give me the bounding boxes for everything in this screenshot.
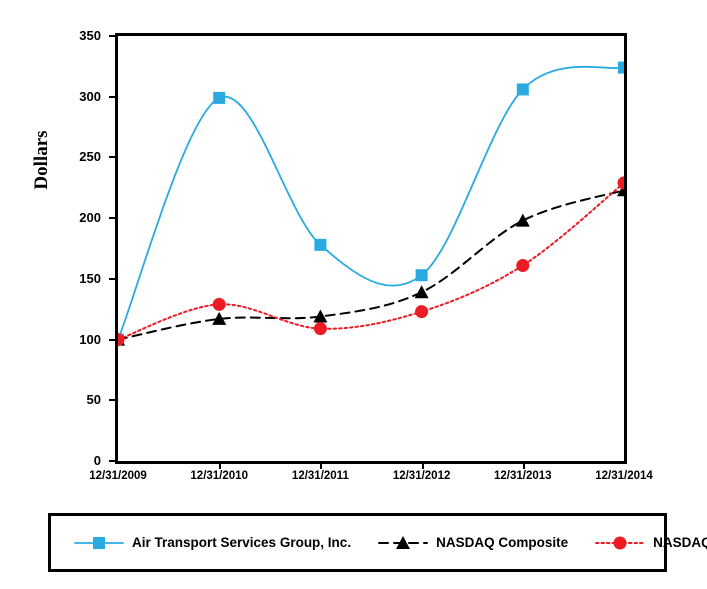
legend: Air Transport Services Group, Inc.NASDAQ… bbox=[48, 513, 667, 572]
data-point-marker bbox=[517, 83, 529, 95]
x-axis-tick-label: 12/31/2014 bbox=[564, 470, 684, 482]
legend-item: NASDAQ Transportation bbox=[594, 535, 707, 551]
data-point-marker bbox=[415, 285, 429, 298]
data-point-marker bbox=[516, 259, 529, 272]
data-point-marker bbox=[516, 214, 530, 227]
x-axis-tick-mark bbox=[219, 464, 221, 469]
data-point-marker bbox=[314, 322, 327, 335]
data-point-marker bbox=[618, 62, 624, 74]
series-line bbox=[118, 183, 624, 340]
data-point-marker bbox=[415, 305, 428, 318]
data-point-marker bbox=[213, 92, 225, 104]
stock-performance-chart: Dollars 050100150200250300350 12/31/2009… bbox=[0, 0, 707, 589]
series-2 bbox=[118, 183, 624, 345]
y-axis-tick-label: 0 bbox=[61, 455, 101, 467]
legend-swatch bbox=[73, 535, 125, 551]
data-point-marker bbox=[213, 298, 226, 311]
y-axis-tick-label: 150 bbox=[61, 273, 101, 285]
legend-swatch bbox=[594, 535, 646, 551]
legend-marker bbox=[93, 537, 105, 549]
y-axis-tick-label: 50 bbox=[61, 394, 101, 406]
x-axis-tick-mark bbox=[320, 464, 322, 469]
y-axis-tick-label: 250 bbox=[61, 151, 101, 163]
legend-marker bbox=[614, 536, 627, 549]
legend-label: NASDAQ Transportation bbox=[653, 535, 707, 550]
series-line bbox=[118, 190, 624, 339]
y-axis-tick-label: 200 bbox=[61, 212, 101, 224]
series-line bbox=[118, 67, 624, 340]
legend-label: Air Transport Services Group, Inc. bbox=[132, 535, 351, 550]
series-3 bbox=[118, 176, 624, 346]
plot-area bbox=[115, 33, 627, 464]
y-axis-tick-label: 300 bbox=[61, 91, 101, 103]
y-axis-title: Dollars bbox=[31, 80, 55, 240]
series-1 bbox=[118, 62, 624, 346]
legend-row: Air Transport Services Group, Inc.NASDAQ… bbox=[51, 516, 664, 569]
legend-item: Air Transport Services Group, Inc. bbox=[73, 535, 351, 551]
x-axis-tick-mark bbox=[422, 464, 424, 469]
legend-label: NASDAQ Composite bbox=[436, 535, 568, 550]
series-canvas bbox=[118, 36, 624, 461]
data-point-marker bbox=[416, 269, 428, 281]
legend-item: NASDAQ Composite bbox=[377, 535, 568, 551]
legend-swatch bbox=[377, 535, 429, 551]
x-axis-tick-mark bbox=[523, 464, 525, 469]
y-axis-tick-label: 350 bbox=[61, 30, 101, 42]
data-point-marker bbox=[314, 239, 326, 251]
y-axis-tick-label: 100 bbox=[61, 334, 101, 346]
